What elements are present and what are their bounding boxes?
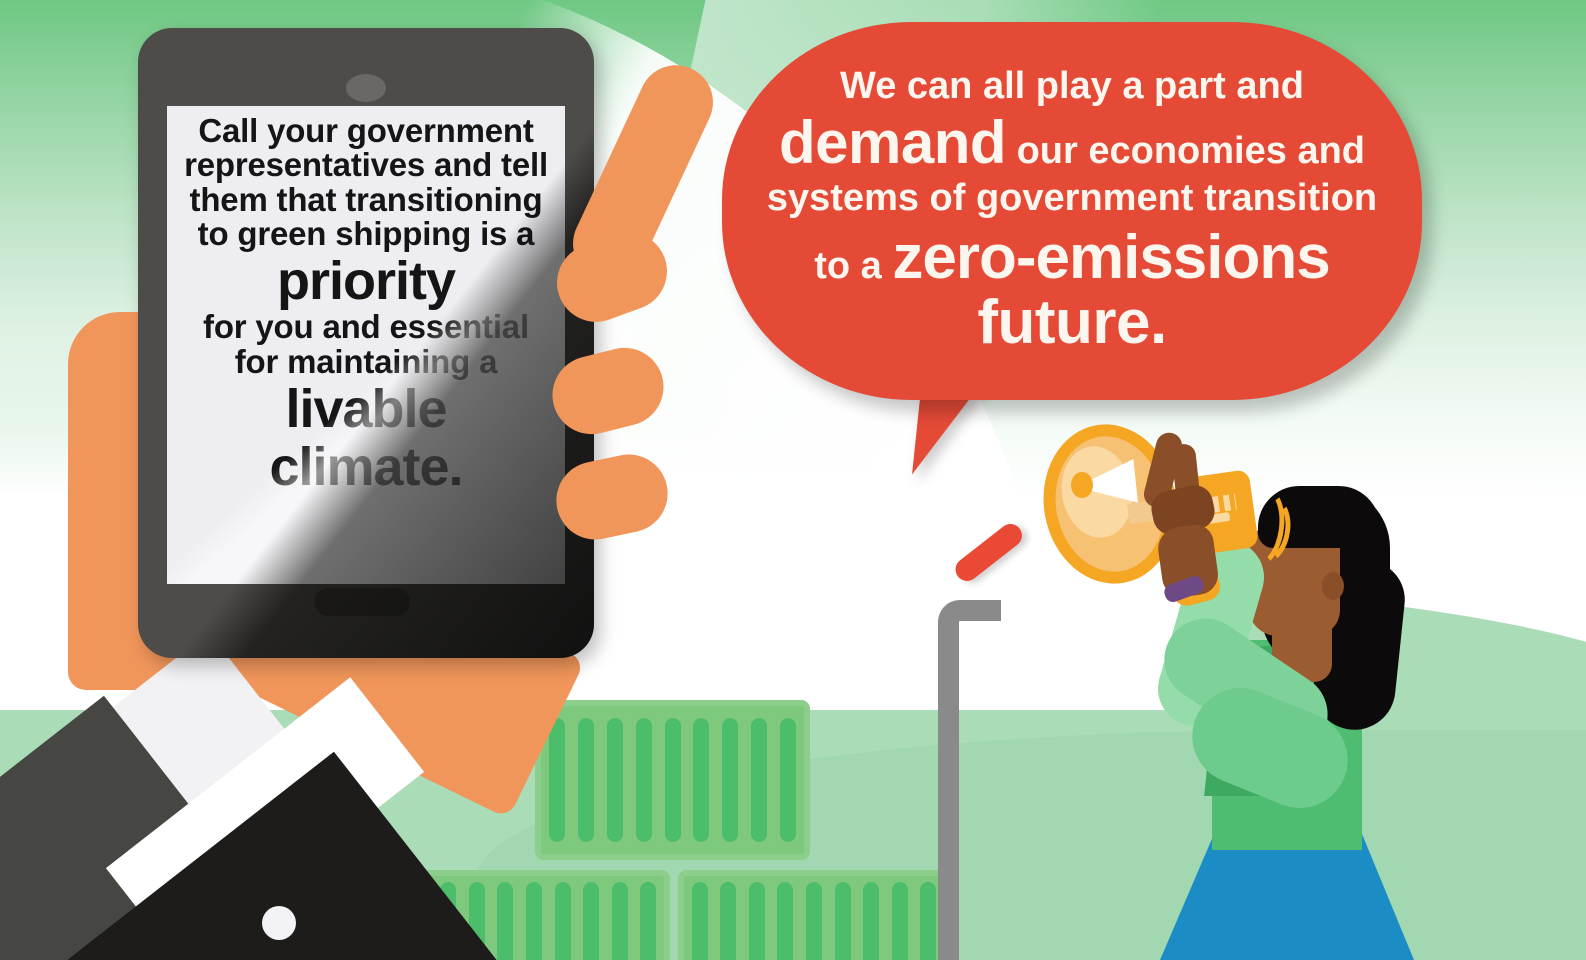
crane-post-icon bbox=[938, 620, 959, 960]
smartphone[interactable]: Call your government representatives and… bbox=[138, 28, 594, 658]
speech-bubble-text: We can all play a part and demand our ec… bbox=[722, 22, 1422, 400]
shipping-container-top bbox=[535, 700, 810, 860]
container-ribs bbox=[549, 718, 797, 843]
bubble-line-2: demand our economies and bbox=[779, 112, 1365, 173]
bubble-line-1: We can all play a part and bbox=[840, 67, 1304, 106]
bubble-line-3: systems of government transition bbox=[767, 179, 1377, 218]
phone-shading bbox=[138, 28, 594, 658]
bubble-emphasis-demand: demand bbox=[779, 109, 1006, 176]
crane-elbow-icon bbox=[938, 600, 1001, 667]
bubble-emphasis-zero-emissions: zero-emissions bbox=[892, 223, 1329, 292]
infographic-canvas: Call your government representatives and… bbox=[0, 0, 1586, 960]
bubble-line-4: to a zero-emissions bbox=[814, 226, 1330, 289]
bubble-line-4-lead: to a bbox=[814, 245, 882, 287]
woman-ear bbox=[1322, 572, 1344, 600]
bubble-emphasis-future: future. bbox=[977, 291, 1166, 354]
sleeve-button bbox=[262, 906, 296, 940]
speech-bubble: We can all play a part and demand our ec… bbox=[722, 22, 1422, 400]
bubble-line-2-rest: our economies and bbox=[1017, 130, 1365, 172]
megaphone-cone-dot bbox=[1071, 472, 1093, 498]
shipping-container-bottom-right bbox=[678, 870, 950, 960]
container-ribs bbox=[692, 882, 937, 960]
